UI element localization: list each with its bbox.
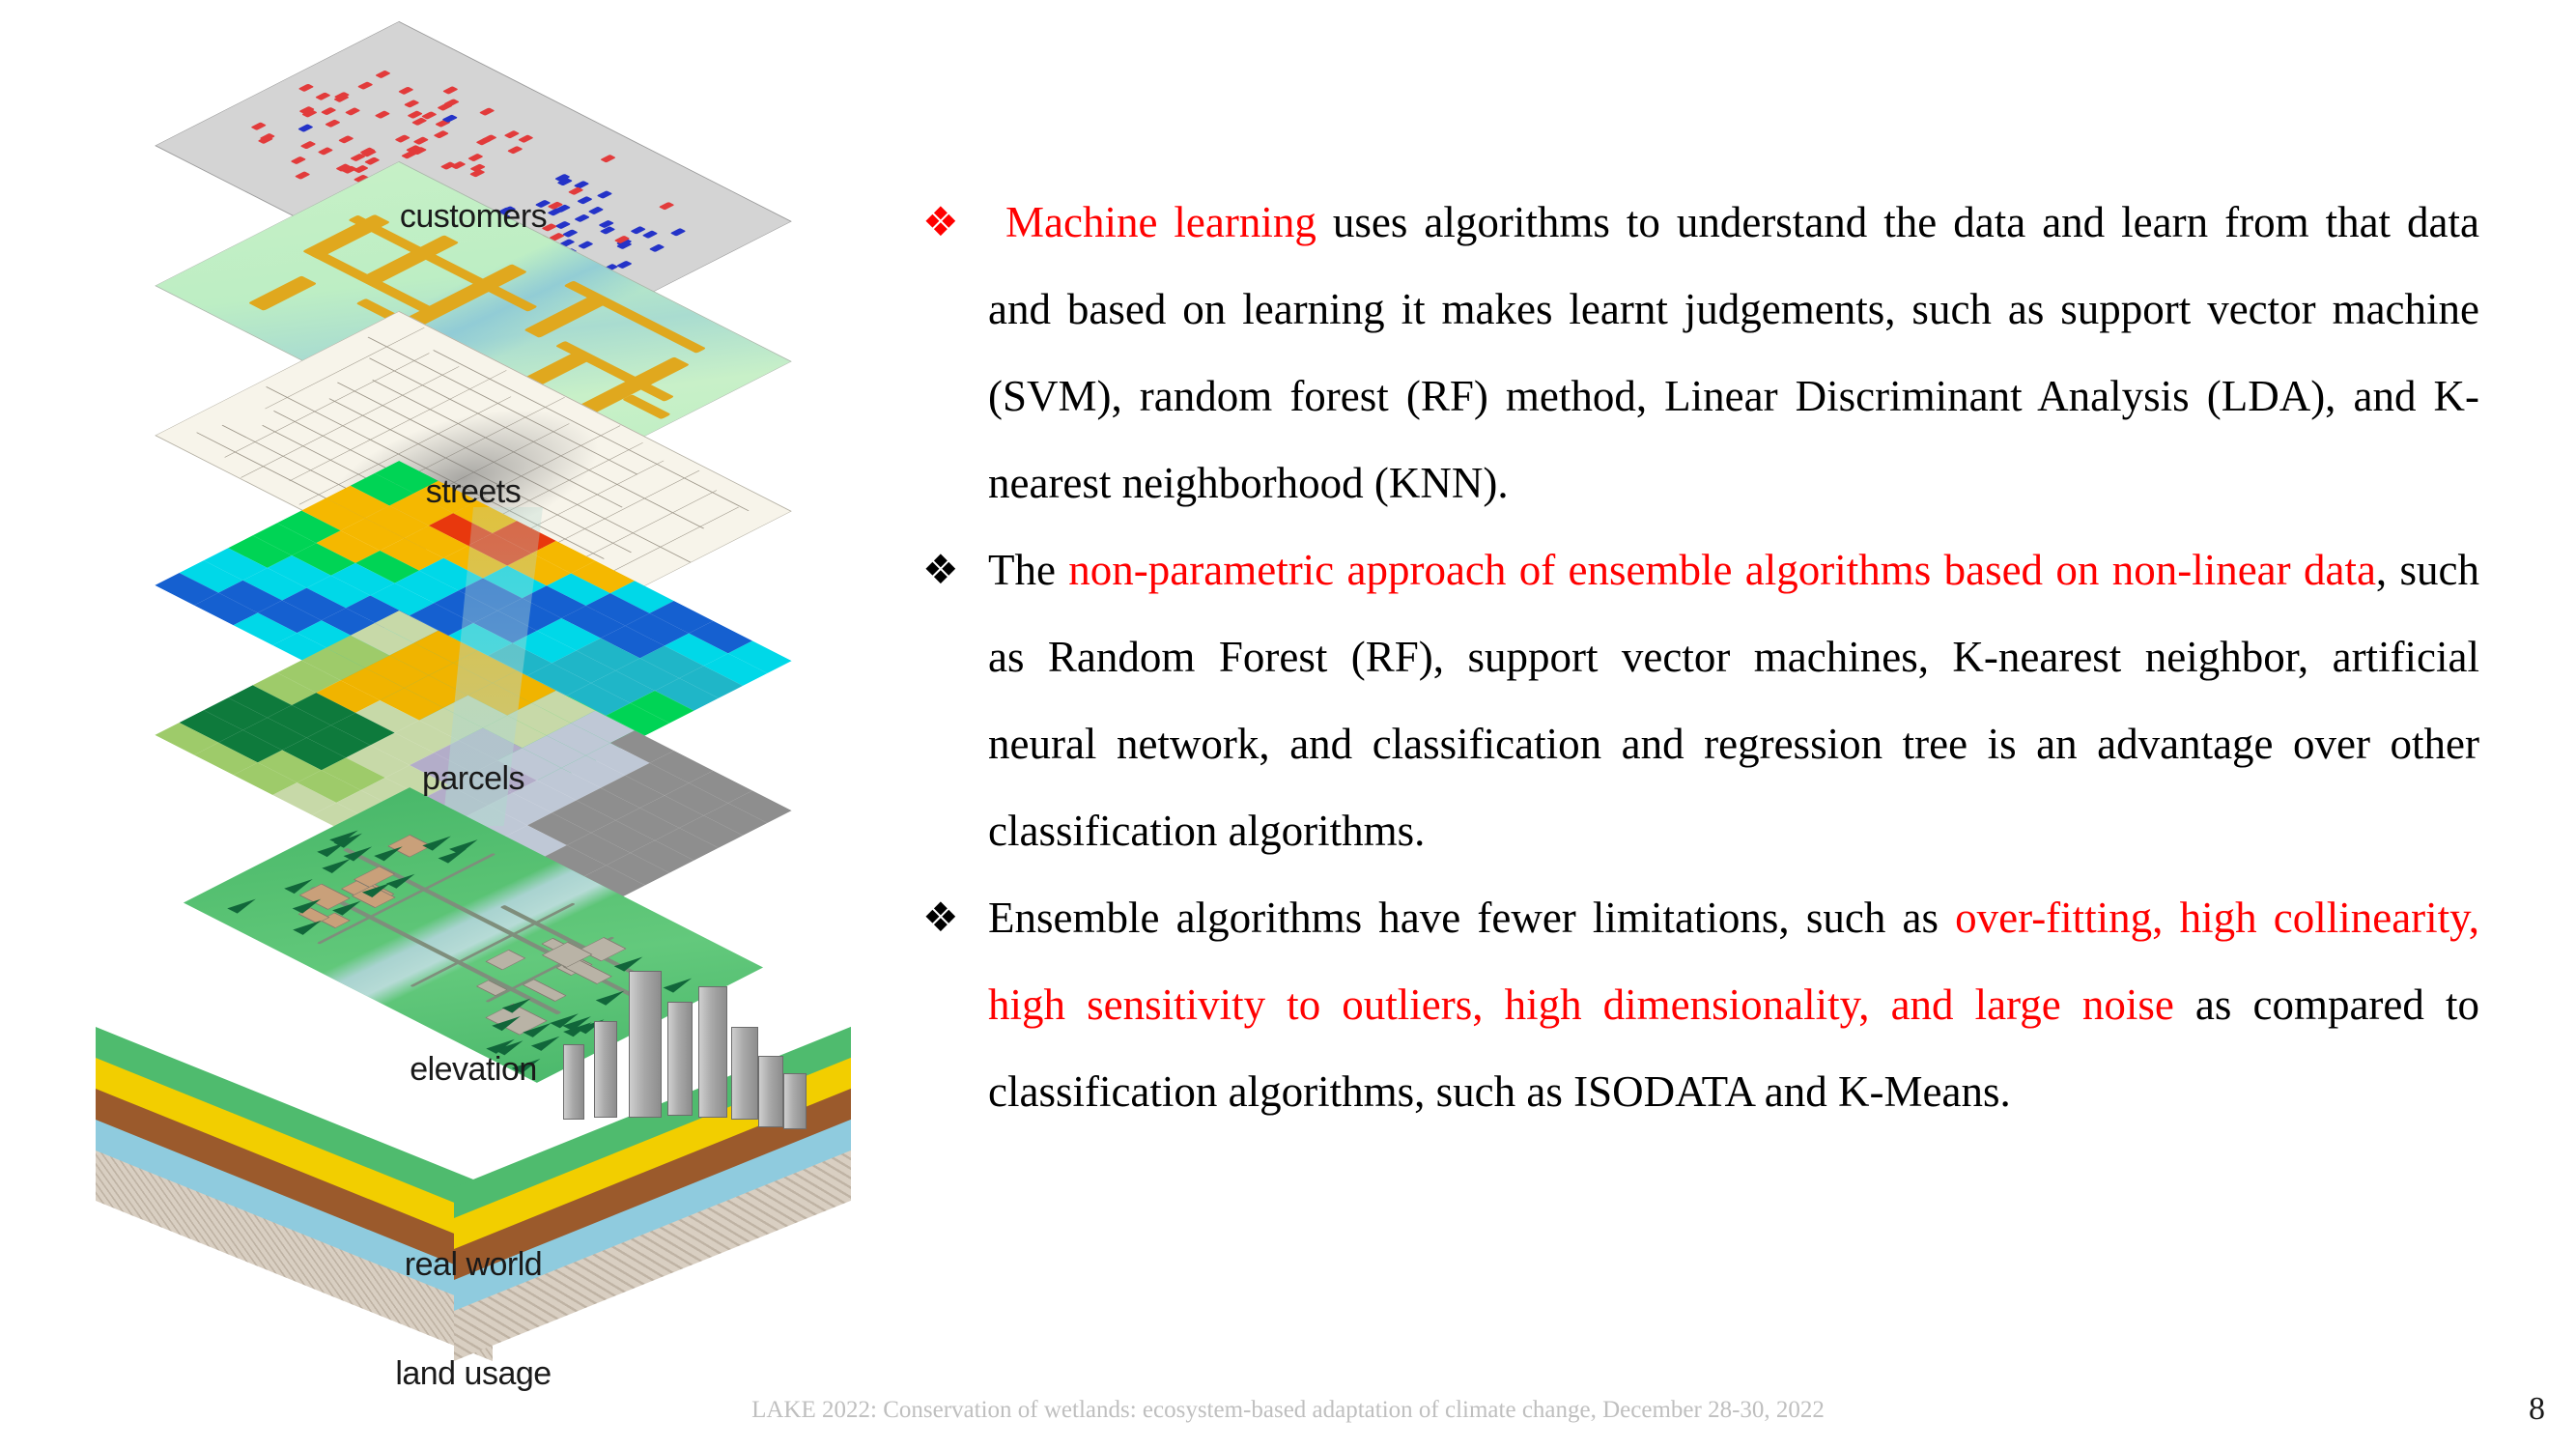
customer-dot bbox=[345, 107, 361, 116]
customer-dot bbox=[442, 86, 459, 95]
customer-dot bbox=[412, 136, 429, 145]
customer-dot bbox=[353, 165, 369, 174]
tree bbox=[596, 988, 630, 1006]
tree bbox=[531, 1034, 565, 1051]
highlighted-phrase: Machine learning bbox=[1005, 198, 1316, 246]
customer-dot bbox=[374, 111, 390, 120]
skyscraper bbox=[731, 1027, 758, 1120]
customer-dot bbox=[315, 92, 331, 100]
gis-data-layers-diagram: customers streets parcels elevation bbox=[92, 53, 855, 1367]
customer-dot bbox=[324, 120, 340, 128]
customer-dot bbox=[251, 122, 268, 130]
tree bbox=[512, 1056, 546, 1073]
customer-dot bbox=[338, 135, 354, 144]
customer-dot bbox=[518, 134, 534, 143]
tree bbox=[439, 846, 472, 864]
skyscraper bbox=[629, 971, 662, 1118]
customer-dot bbox=[321, 107, 337, 116]
body-phrase: Ensemble algorithms have fewer limitatio… bbox=[988, 894, 1955, 942]
customer-dot bbox=[433, 130, 449, 139]
customer-dot bbox=[363, 157, 380, 166]
street-segment bbox=[248, 275, 317, 310]
skyscraper bbox=[783, 1073, 807, 1129]
diamond-bullet-icon: ❖ bbox=[922, 874, 959, 961]
bullet-text-1: Machine learning uses algorithms to unde… bbox=[988, 179, 2479, 526]
bullet-item: ❖ Machine learning uses algorithms to un… bbox=[922, 179, 2479, 526]
customer-dot bbox=[297, 124, 314, 132]
customer-dot bbox=[297, 84, 314, 93]
customer-dot bbox=[317, 147, 333, 156]
customer-dot bbox=[394, 134, 410, 143]
bullet-text-2: The non-parametric approach of ensemble … bbox=[988, 526, 2479, 874]
customer-dot bbox=[300, 141, 317, 150]
tree bbox=[227, 896, 261, 914]
slide-number: 8 bbox=[2529, 1391, 2545, 1428]
customer-dot bbox=[504, 130, 521, 139]
bullet-item: ❖ Ensemble algorithms have fewer limitat… bbox=[922, 874, 2479, 1135]
customer-dot bbox=[506, 146, 523, 155]
customer-dot bbox=[294, 171, 310, 180]
customer-dot bbox=[479, 107, 495, 116]
diamond-bullet-icon: ❖ bbox=[922, 179, 959, 266]
customer-dot bbox=[601, 155, 617, 163]
diamond-bullet-icon: ❖ bbox=[922, 526, 959, 613]
gis-layer-real-world: real world bbox=[92, 797, 855, 1367]
tree bbox=[293, 918, 326, 935]
customer-dot bbox=[291, 156, 307, 164]
customer-dot bbox=[356, 81, 373, 90]
highlighted-phrase: non-parametric approach of ensemble algo… bbox=[1068, 546, 2376, 594]
customer-dot bbox=[467, 154, 484, 162]
customer-dot bbox=[375, 71, 391, 79]
building bbox=[579, 937, 627, 961]
skyscraper bbox=[758, 1056, 783, 1127]
customer-dot bbox=[404, 99, 420, 108]
skyscraper bbox=[594, 1021, 617, 1118]
bullet-text-3: Ensemble algorithms have fewer limitatio… bbox=[988, 874, 2479, 1135]
skyscraper bbox=[667, 1002, 693, 1116]
terrain-river bbox=[297, 851, 635, 1020]
tree bbox=[663, 976, 696, 993]
bullet-list: ❖ Machine learning uses algorithms to un… bbox=[922, 179, 2479, 1135]
footer-conference-note: LAKE 2022: Conservation of wetlands: eco… bbox=[0, 1397, 2576, 1424]
slide: customers streets parcels elevation bbox=[0, 0, 2576, 1449]
bullet-item: ❖ The non-parametric approach of ensembl… bbox=[922, 526, 2479, 874]
customer-dot bbox=[397, 87, 413, 96]
skyscraper bbox=[563, 1044, 584, 1120]
body-phrase: The bbox=[988, 546, 1068, 594]
skyscraper bbox=[698, 986, 727, 1118]
real-world-block bbox=[92, 797, 855, 1338]
